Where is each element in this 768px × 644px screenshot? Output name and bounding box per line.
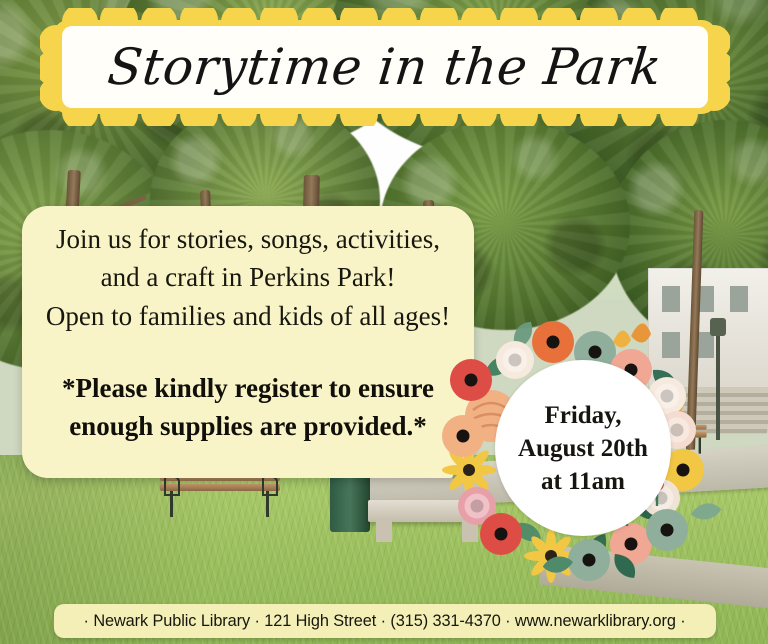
date-line: Friday, xyxy=(544,399,621,432)
date-line: August 20th xyxy=(518,432,648,465)
title-banner: Storytime in the Park xyxy=(40,8,730,126)
poster: Storytime in the Park Join us for storie… xyxy=(0,0,768,644)
contact-footer: · Newark Public Library · 121 High Stree… xyxy=(54,604,716,638)
date-circle: Friday, August 20th at 11am xyxy=(495,360,671,536)
bench-arm xyxy=(262,476,278,496)
page-title: Storytime in the Park xyxy=(106,42,665,92)
trash-can xyxy=(330,470,370,532)
contact-info: · Newark Public Library · 121 High Stree… xyxy=(84,611,686,631)
building-window xyxy=(730,286,748,312)
registration-note-line: enough supplies are provided.* xyxy=(38,407,458,445)
date-badge: Friday, August 20th at 11am xyxy=(455,318,715,580)
bench-arm xyxy=(164,476,180,496)
description-card: Join us for stories, songs, activities, … xyxy=(22,206,474,478)
date-line: at 11am xyxy=(541,465,625,498)
description-line: Open to families and kids of all ages! xyxy=(38,297,458,335)
description-line: Join us for stories, songs, activities, xyxy=(38,220,458,258)
lamp-post xyxy=(716,330,720,440)
registration-note-line: *Please kindly register to ensure xyxy=(38,369,458,407)
description-line: and a craft in Perkins Park! xyxy=(38,258,458,296)
building-window xyxy=(662,286,680,312)
banner-panel: Storytime in the Park xyxy=(62,26,708,108)
